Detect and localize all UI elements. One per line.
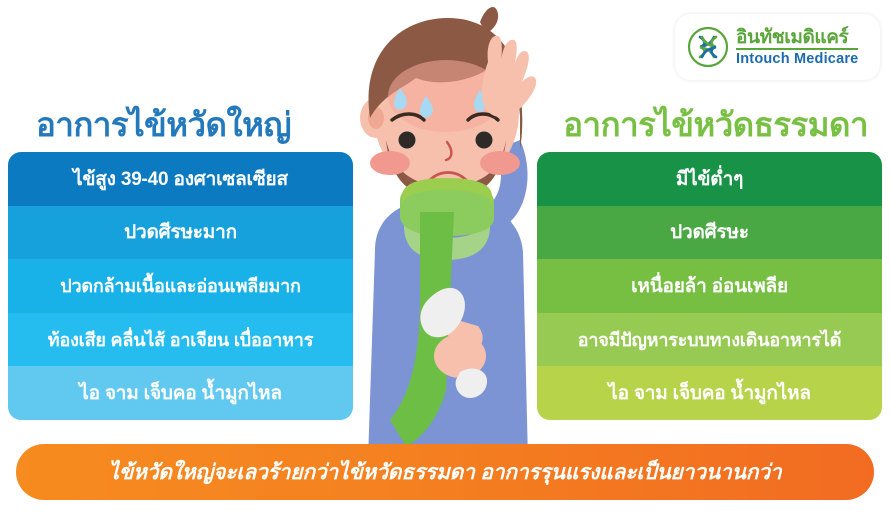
list-item: ไอ จาม เจ็บคอ น้ำมูกไหล xyxy=(537,366,882,420)
right-column-heading: อาการไข้หวัดธรรมดา xyxy=(563,98,868,151)
summary-banner: ไข้หวัดใหญ่จะเลวร้ายกว่าไข้หวัดธรรมดา อา… xyxy=(16,444,874,500)
logo-name-english: Intouch Medicare xyxy=(736,52,858,67)
list-item: มีไข้ต่ำๆ xyxy=(537,152,882,206)
common-cold-symptom-list: มีไข้ต่ำๆ ปวดศีรษะ เหนื่อยล้า อ่อนเพลีย … xyxy=(537,152,882,420)
list-item: ปวดกล้ามเนื้อและอ่อนเพลียมาก xyxy=(8,259,353,313)
list-item: ไข้สูง 39-40 องศาเซลเซียส xyxy=(8,152,353,206)
list-item: ท้องเสีย คลื่นไส้ อาเจียน เบื่ออาหาร xyxy=(8,313,353,367)
list-item: ปวดศีรษะ xyxy=(537,206,882,260)
summary-banner-text: ไข้หวัดใหญ่จะเลวร้ายกว่าไข้หวัดธรรมดา อา… xyxy=(109,456,782,489)
list-item: เหนื่อยล้า อ่อนเพลีย xyxy=(537,259,882,313)
logo-wordmark: อินทัชเมดิแคร์ Intouch Medicare xyxy=(736,28,858,67)
list-item: ไอ จาม เจ็บคอ น้ำมูกไหล xyxy=(8,366,353,420)
infographic-canvas: อินทัชเมดิแคร์ Intouch Medicare อาการไข้… xyxy=(0,0,890,518)
left-column-heading: อาการไข้หวัดใหญ่ xyxy=(36,98,291,151)
influenza-symptom-list: ไข้สูง 39-40 องศาเซลเซียส ปวดศีรษะมาก ปว… xyxy=(8,152,353,420)
sick-man-illustration xyxy=(320,0,575,460)
list-item: ปวดศีรษะมาก xyxy=(8,206,353,260)
brand-logo: อินทัชเมดิแคร์ Intouch Medicare xyxy=(675,14,880,80)
logo-name-thai: อินทัชเมดิแคร์ xyxy=(736,28,858,50)
list-item: อาจมีปัญหาระบบทางเดินอาหารได้ xyxy=(537,313,882,367)
intouch-circle-emblem-icon xyxy=(687,26,729,68)
